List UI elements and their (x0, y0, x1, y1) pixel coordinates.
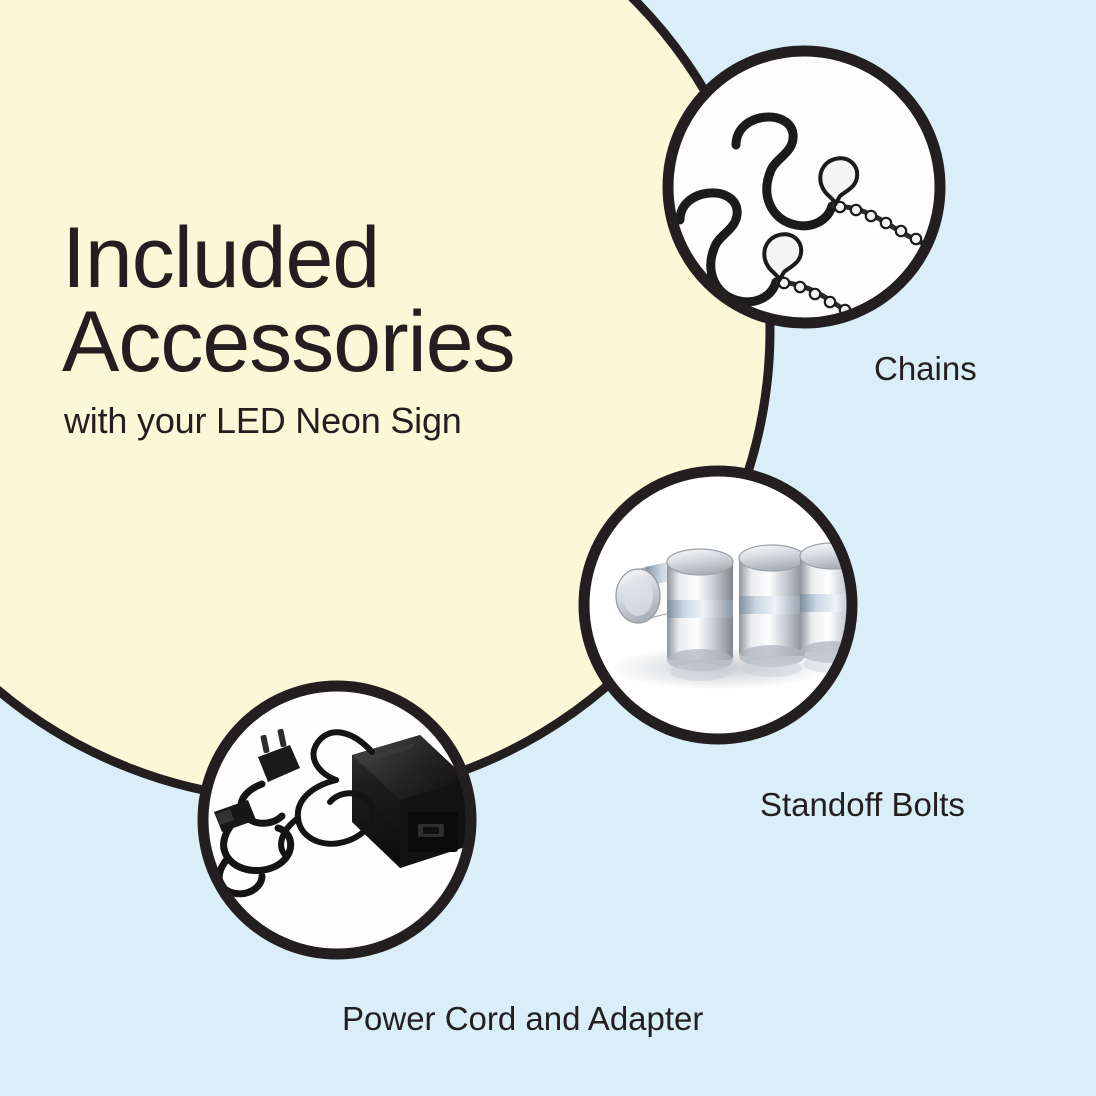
caption-chains: Chains (874, 350, 977, 388)
artwork-layer (0, 0, 1096, 1096)
caption-standoff-bolts: Standoff Bolts (760, 786, 965, 824)
page-subtitle: with your LED Neon Sign (64, 400, 462, 442)
caption-power-cord-adapter: Power Cord and Adapter (342, 1000, 703, 1038)
standoff-bolt-2 (739, 545, 805, 667)
infographic-canvas: Included Accessories with your LED Neon … (0, 0, 1096, 1096)
page-title: Included Accessories (62, 216, 702, 385)
standoff-bolt-1 (667, 549, 733, 671)
